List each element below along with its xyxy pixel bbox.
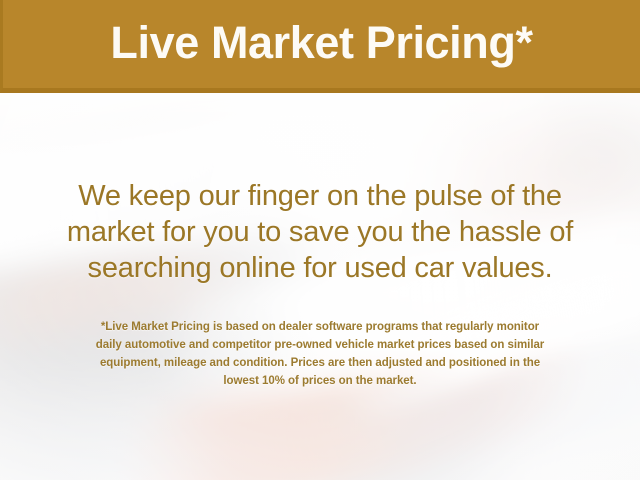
headline-line-2: market for you to save you the hassle of [0,214,640,250]
headline-text: We keep our finger on the pulse of the m… [0,178,640,286]
disclaimer-line-2: daily automotive and competitor pre-owne… [0,336,640,354]
disclaimer-line-3: equipment, mileage and condition. Prices… [0,354,640,372]
headline-line-3: searching online for used car values. [0,250,640,286]
disclaimer-line-1: *Live Market Pricing is based on dealer … [0,318,640,336]
page-title: Live Market Pricing* [110,20,532,65]
live-market-pricing-slide: Live Market Pricing* We keep our finger … [0,0,640,480]
disclaimer-line-4: lowest 10% of prices on the market. [0,372,640,390]
disclaimer-text: *Live Market Pricing is based on dealer … [0,318,640,390]
content-area: We keep our finger on the pulse of the m… [0,93,640,480]
headline-line-1: We keep our finger on the pulse of the [0,178,640,214]
header-banner: Live Market Pricing* [0,0,640,93]
